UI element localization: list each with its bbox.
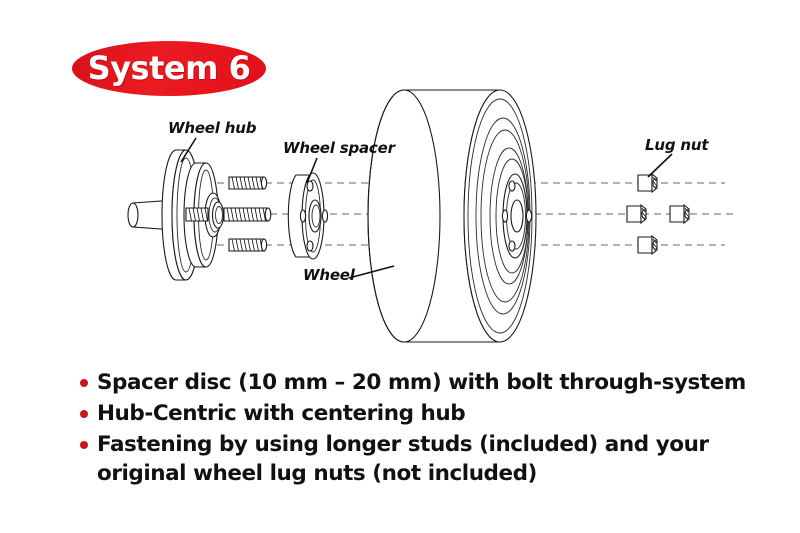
wheel-part — [368, 90, 536, 342]
callout-lug-nut: Lug nut — [645, 136, 708, 154]
hub-stud-lower — [229, 239, 267, 251]
bullet-icon — [80, 379, 88, 387]
lug-nut-upper — [638, 174, 657, 192]
lug-nut-lower — [638, 236, 657, 254]
callout-wheel-spacer: Wheel spacer — [283, 139, 395, 157]
page-root: System 6 .ln { fill:none; stroke:#1a1a1a… — [0, 0, 800, 533]
hub-stud-near — [224, 208, 271, 221]
wheel-spacer-part — [288, 173, 327, 259]
feature-text: Fastening by using longer studs (include… — [97, 430, 747, 488]
leader-lug-nut — [648, 154, 672, 177]
feature-text: Hub-Centric with centering hub — [97, 399, 465, 428]
callout-wheel-hub: Wheel hub — [168, 119, 256, 137]
list-item: Fastening by using longer studs (include… — [80, 430, 760, 488]
hub-stud-upper — [229, 177, 267, 189]
bullet-icon — [80, 441, 88, 449]
feature-list: Spacer disc (10 mm – 20 mm) with bolt th… — [80, 368, 760, 490]
wheel-hub-part — [162, 150, 271, 280]
feature-text: Spacer disc (10 mm – 20 mm) with bolt th… — [97, 368, 746, 397]
callout-wheel: Wheel — [303, 266, 355, 284]
list-item: Hub-Centric with centering hub — [80, 399, 760, 428]
wheel-spacer-diagram: .ln { fill:none; stroke:#1a1a1a; stroke-… — [0, 0, 800, 360]
lug-nut-middle-right — [670, 205, 689, 223]
bullet-icon — [80, 410, 88, 418]
list-item: Spacer disc (10 mm – 20 mm) with bolt th… — [80, 368, 760, 397]
hub-stud-far — [186, 208, 208, 221]
lug-nut-middle-left — [627, 205, 646, 223]
